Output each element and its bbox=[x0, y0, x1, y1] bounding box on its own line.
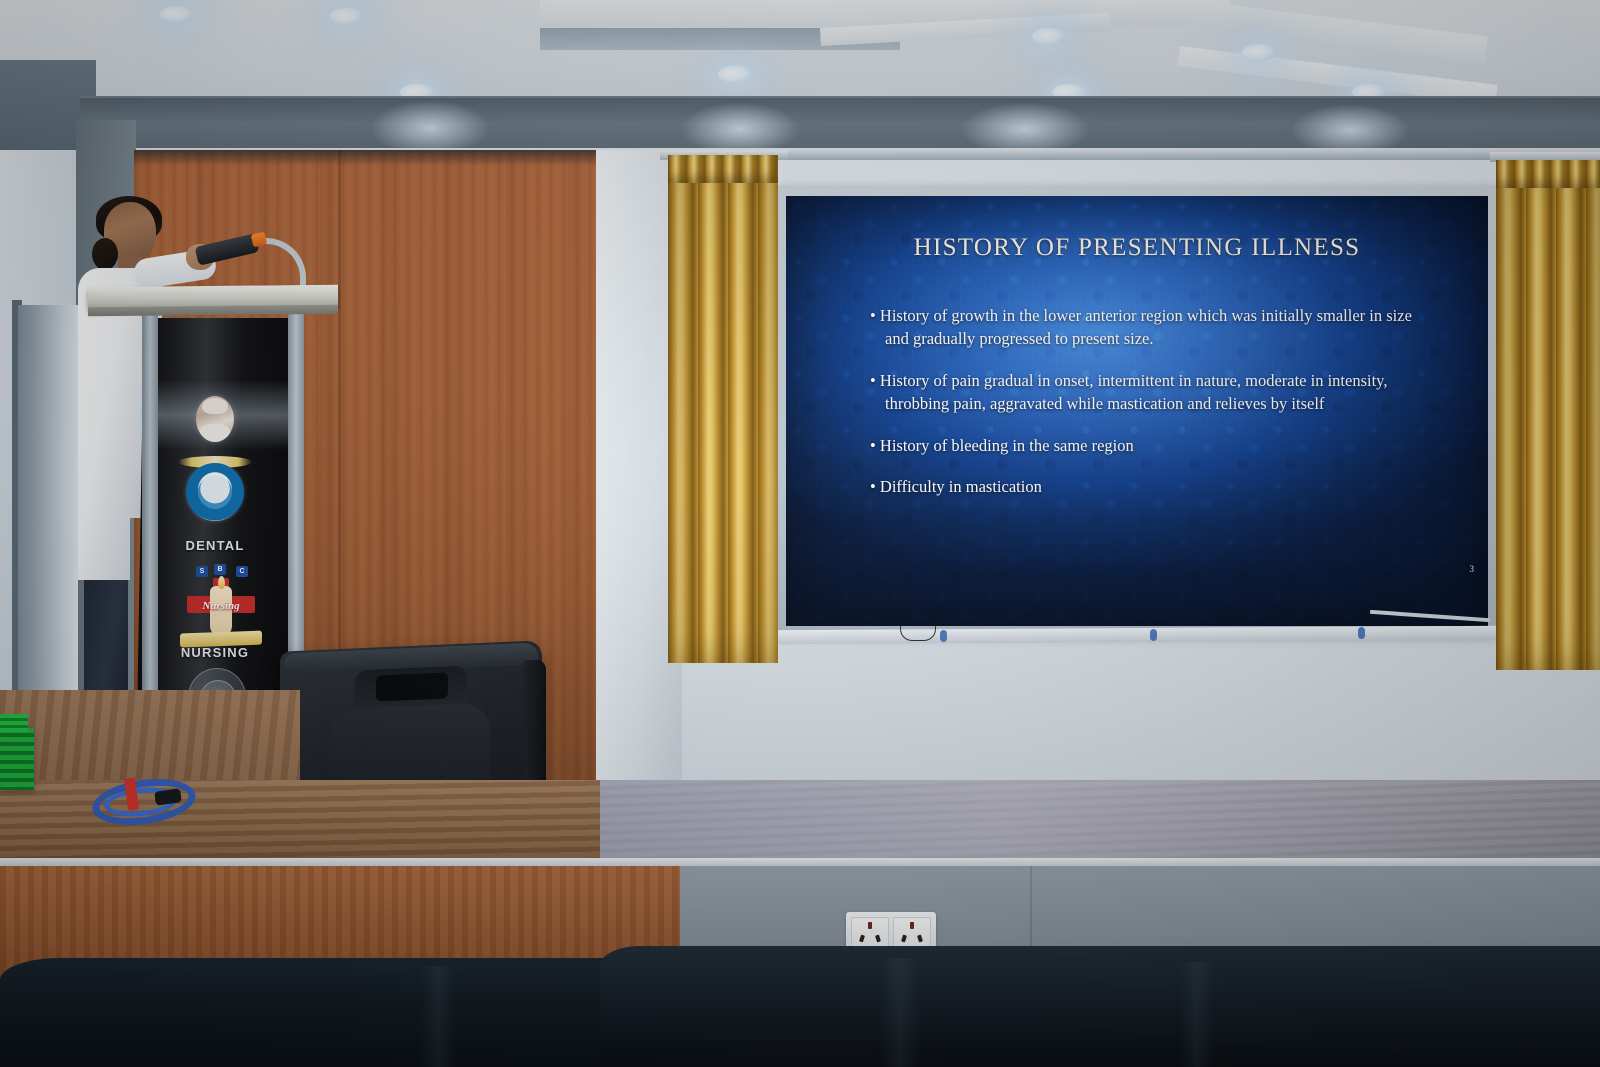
stacked-green-chairs-top bbox=[0, 714, 28, 732]
speaker-handle-icon bbox=[376, 672, 448, 701]
slide-number: 3 bbox=[1470, 564, 1475, 574]
nursing-initial-c: C bbox=[236, 566, 248, 577]
cloth-fold-1 bbox=[880, 958, 920, 1067]
nursing-initial-s: S bbox=[196, 566, 208, 577]
podium-portrait-photo bbox=[196, 396, 234, 442]
presentation-screen[interactable]: HISTORY OF PRESENTING ILLNESS History of… bbox=[786, 196, 1488, 626]
stage-floor-reflection bbox=[600, 780, 1600, 862]
socket-pin-earth-right bbox=[910, 922, 914, 929]
ceiling-downlight-6 bbox=[1242, 44, 1276, 61]
slide-bullet-3: History of bleeding in the same region bbox=[870, 434, 1430, 457]
nursing-emblem-word: Nursing bbox=[186, 600, 256, 612]
foreground-dark-cloth-right bbox=[600, 946, 1600, 1067]
slide-bullet-1: History of growth in the lower anterior … bbox=[870, 304, 1430, 351]
podium-label-dental: DENTAL bbox=[150, 538, 280, 553]
ceiling-downlight-1 bbox=[160, 6, 194, 23]
stage-curtain-left bbox=[668, 155, 778, 663]
slide-bullet-2: History of pain gradual in onset, interm… bbox=[870, 369, 1430, 416]
stacked-green-chairs bbox=[0, 728, 34, 790]
ceiling-beam-1 bbox=[540, 0, 870, 30]
dental-college-emblem-icon bbox=[186, 463, 244, 521]
screen-cable-clip-2 bbox=[1150, 629, 1157, 641]
screen-cable-clip-1 bbox=[940, 630, 947, 642]
socket-pin-live-left bbox=[859, 935, 865, 943]
stage-curtain-right bbox=[1496, 160, 1600, 670]
wood-wall-shadow bbox=[134, 150, 600, 166]
ceiling-downlight-4 bbox=[718, 66, 752, 83]
slide-title: HISTORY OF PRESENTING ILLNESS bbox=[786, 234, 1488, 262]
socket-pin-live-right bbox=[901, 935, 907, 943]
curtain-pleat-header-right bbox=[1496, 160, 1600, 188]
nursing-initial-b: B bbox=[214, 564, 226, 575]
nursing-flame-icon bbox=[218, 576, 225, 589]
ceiling-downlight-5 bbox=[1032, 28, 1066, 45]
power-socket-right[interactable] bbox=[893, 917, 931, 949]
auditorium-presentation-scene: HISTORY OF PRESENTING ILLNESS History of… bbox=[0, 0, 1600, 1067]
cloth-fold-2 bbox=[1180, 962, 1214, 1067]
socket-pin-earth-left bbox=[868, 922, 872, 929]
portrait-hair bbox=[202, 398, 228, 414]
slide-bullet-4: Difficulty in mastication bbox=[870, 475, 1430, 498]
dental-emblem-inner bbox=[198, 475, 232, 509]
socket-pin-neutral-left bbox=[875, 935, 881, 943]
door-panel bbox=[18, 305, 78, 745]
cloth-fold-3 bbox=[420, 966, 456, 1067]
stage-floor-wood-left bbox=[0, 780, 600, 862]
slide-bullet-list: History of growth in the lower anterior … bbox=[870, 304, 1430, 517]
socket-pin-neutral-right bbox=[917, 935, 923, 943]
power-socket-left[interactable] bbox=[851, 917, 889, 949]
portrait-body bbox=[200, 424, 230, 442]
ceiling-downlight-2 bbox=[330, 8, 364, 25]
presenter-hair-bun bbox=[92, 238, 118, 270]
podium-label-nursing: NURSING bbox=[150, 645, 280, 660]
curtain-pleat-header-left bbox=[668, 155, 778, 183]
screen-cable-loop bbox=[900, 626, 936, 641]
screen-cable-clip-3 bbox=[1358, 627, 1365, 639]
